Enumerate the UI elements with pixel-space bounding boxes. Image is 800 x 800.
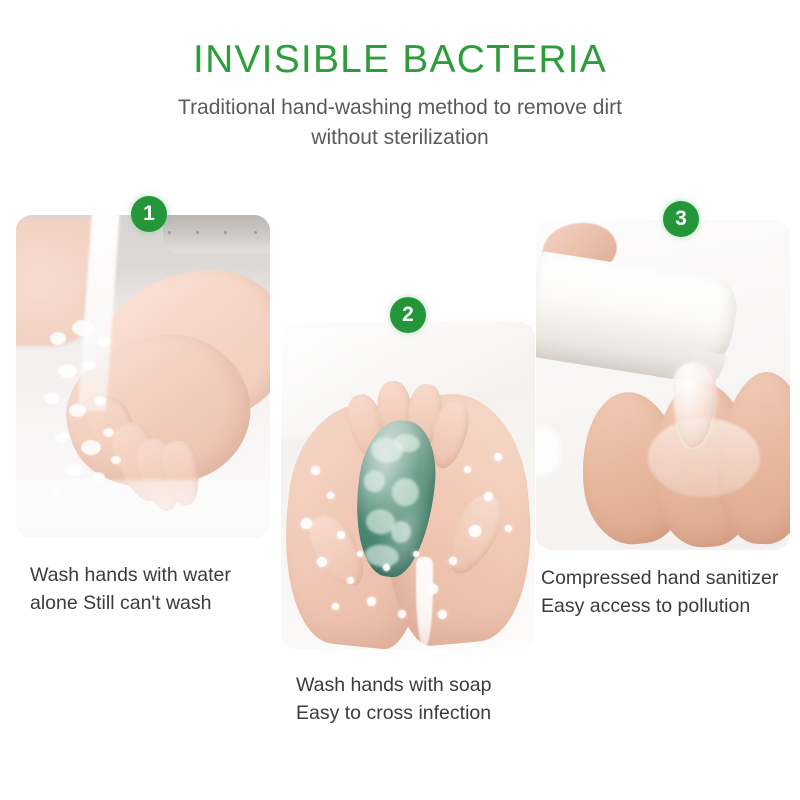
subtitle-line-1: Traditional hand-washing method to remov…: [0, 93, 800, 123]
step-1-caption-line-2: alone Still can't wash: [30, 590, 231, 618]
step-3-photo-panel: [536, 220, 790, 550]
sink-basin: [16, 480, 270, 538]
step-3-caption-line-2: Easy access to pollution: [541, 593, 778, 621]
step-3-caption-line-1: Compressed hand sanitizer: [541, 565, 778, 593]
header: INVISIBLE BACTERIA Traditional hand-wash…: [0, 0, 800, 153]
faucet-screw-dots: [168, 231, 270, 237]
hands-under-running-water-photo: [16, 215, 270, 538]
step-2-caption-line-1: Wash hands with soap: [296, 672, 491, 700]
step-2-badge: 2: [390, 297, 426, 333]
hands-lathering-soap-bar-photo: [281, 322, 535, 649]
page-subtitle: Traditional hand-washing method to remov…: [0, 81, 800, 153]
page-title: INVISIBLE BACTERIA: [0, 0, 800, 81]
step-1-photo-panel: [16, 215, 270, 538]
step-2-photo-panel: [281, 322, 535, 649]
step-3-badge: 3: [663, 201, 699, 237]
step-1-caption-line-1: Wash hands with water: [30, 562, 231, 590]
step-3-caption: Compressed hand sanitizer Easy access to…: [541, 565, 778, 620]
step-2-caption-line-2: Easy to cross infection: [296, 700, 491, 728]
step-1-badge: 1: [131, 196, 167, 232]
infographic-root: INVISIBLE BACTERIA Traditional hand-wash…: [0, 0, 800, 800]
step-1-caption: Wash hands with water alone Still can't …: [30, 562, 231, 617]
step-2-caption: Wash hands with soap Easy to cross infec…: [296, 672, 491, 727]
sanitizer-bottle-dispensing-gel-photo: [536, 220, 790, 550]
subtitle-line-2: without sterilization: [0, 123, 800, 153]
